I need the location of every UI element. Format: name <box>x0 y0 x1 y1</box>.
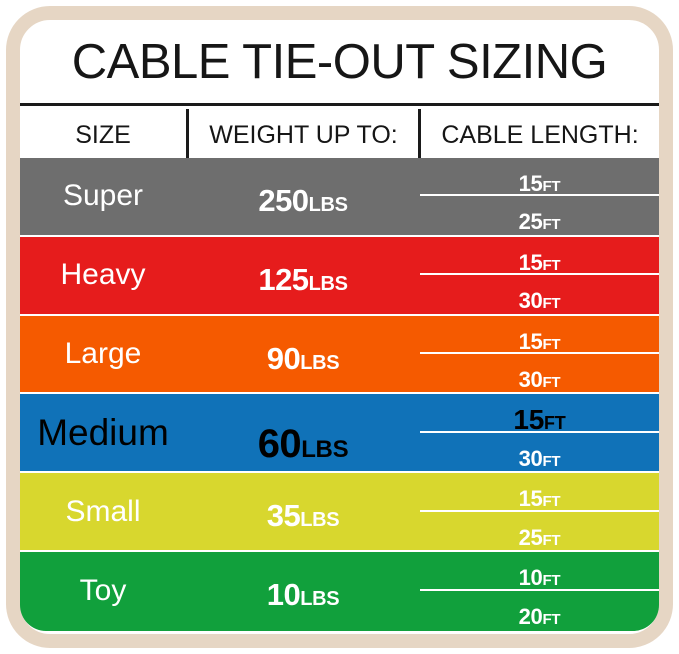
cable-length-unit: FT <box>542 572 560 589</box>
cable-length-unit: FT <box>542 216 560 233</box>
cable-length-unit: FT <box>542 374 560 391</box>
cable-length-unit: FT <box>542 336 560 353</box>
cable-length-value: 25 <box>519 525 543 551</box>
cable-length-option: 15FT <box>420 394 659 432</box>
cable-length-option: 15FT <box>420 316 659 354</box>
cell-weight: 35LBS <box>188 473 418 550</box>
cable-length-option: 20FT <box>420 591 659 630</box>
cell-cable-length: 15FT25FT <box>420 158 659 235</box>
weight-value: 125 <box>258 262 308 298</box>
cable-length-option: 30FT <box>420 433 659 471</box>
cable-length-unit: FT <box>542 178 560 195</box>
weight-unit: LBS <box>309 273 348 296</box>
cable-length-option: 15FT <box>420 237 659 275</box>
cable-length-unit: FT <box>542 532 560 549</box>
cable-length-unit: FT <box>542 493 560 510</box>
column-header-cable-length: CABLE LENGTH: <box>418 109 659 161</box>
cell-size: Heavy <box>20 237 186 314</box>
weight-value: 60 <box>258 422 302 467</box>
weight-value: 10 <box>267 577 300 613</box>
cell-cable-length: 15FT25FT <box>420 473 659 550</box>
cell-weight: 125LBS <box>188 237 418 314</box>
cable-length-option: 30FT <box>420 354 659 392</box>
cell-size: Medium <box>20 394 186 471</box>
cell-size: Super <box>20 158 186 235</box>
cable-length-value: 25 <box>519 209 543 235</box>
cable-tie-out-sizing-chart: CABLE TIE-OUT SIZING SIZE WEIGHT UP TO: … <box>0 0 679 654</box>
cable-length-option: 15FT <box>420 473 659 511</box>
cable-length-value: 15 <box>519 329 543 355</box>
page-title: CABLE TIE-OUT SIZING <box>20 26 659 98</box>
cable-length-option: 10FT <box>420 552 659 591</box>
cell-weight: 60LBS <box>188 394 418 471</box>
cable-length-option: 15FT <box>420 158 659 196</box>
table-row: Toy10LBS10FT20FT <box>20 552 659 631</box>
table-row: Medium60LBS15FT30FT <box>20 394 659 473</box>
cable-length-value: 15 <box>519 250 543 276</box>
cable-length-unit: FT <box>544 413 566 434</box>
cell-cable-length: 15FT30FT <box>420 316 659 393</box>
cable-length-value: 30 <box>519 446 543 472</box>
cell-size: Toy <box>20 552 186 631</box>
cable-length-unit: FT <box>542 611 560 628</box>
cable-length-option: 25FT <box>420 196 659 234</box>
cell-weight: 250LBS <box>188 158 418 235</box>
weight-value: 90 <box>267 341 300 377</box>
sizing-table: SIZE WEIGHT UP TO: CABLE LENGTH: Super25… <box>20 103 659 631</box>
cell-weight: 90LBS <box>188 316 418 393</box>
cable-length-unit: FT <box>542 453 560 470</box>
weight-unit: LBS <box>301 436 348 464</box>
column-header-size: SIZE <box>20 109 186 161</box>
cell-weight: 10LBS <box>188 552 418 631</box>
cable-length-value: 15 <box>519 171 543 197</box>
cell-cable-length: 15FT30FT <box>420 394 659 471</box>
cable-length-option: 25FT <box>420 512 659 550</box>
table-body: Super250LBS15FT25FTHeavy125LBS15FT30FTLa… <box>20 158 659 631</box>
cell-cable-length: 10FT20FT <box>420 552 659 631</box>
table-row: Small35LBS15FT25FT <box>20 473 659 552</box>
cable-length-value: 15 <box>513 404 544 436</box>
cable-length-value: 10 <box>519 565 543 591</box>
cable-length-value: 30 <box>519 288 543 314</box>
column-header-weight: WEIGHT UP TO: <box>186 109 418 161</box>
table-row: Large90LBS15FT30FT <box>20 316 659 395</box>
weight-unit: LBS <box>300 352 339 375</box>
table-row: Super250LBS15FT25FT <box>20 158 659 237</box>
table-header-row: SIZE WEIGHT UP TO: CABLE LENGTH: <box>20 103 659 158</box>
weight-value: 250 <box>258 183 308 219</box>
cable-length-value: 30 <box>519 367 543 393</box>
cable-length-unit: FT <box>542 257 560 274</box>
weight-unit: LBS <box>300 509 339 532</box>
cable-length-unit: FT <box>542 295 560 312</box>
cell-size: Large <box>20 316 186 393</box>
cell-size: Small <box>20 473 186 550</box>
cable-length-value: 20 <box>519 604 543 630</box>
weight-unit: LBS <box>300 588 339 611</box>
cable-length-value: 15 <box>519 486 543 512</box>
cell-cable-length: 15FT30FT <box>420 237 659 314</box>
table-row: Heavy125LBS15FT30FT <box>20 237 659 316</box>
weight-value: 35 <box>267 498 300 534</box>
weight-unit: LBS <box>309 194 348 217</box>
cable-length-option: 30FT <box>420 275 659 313</box>
